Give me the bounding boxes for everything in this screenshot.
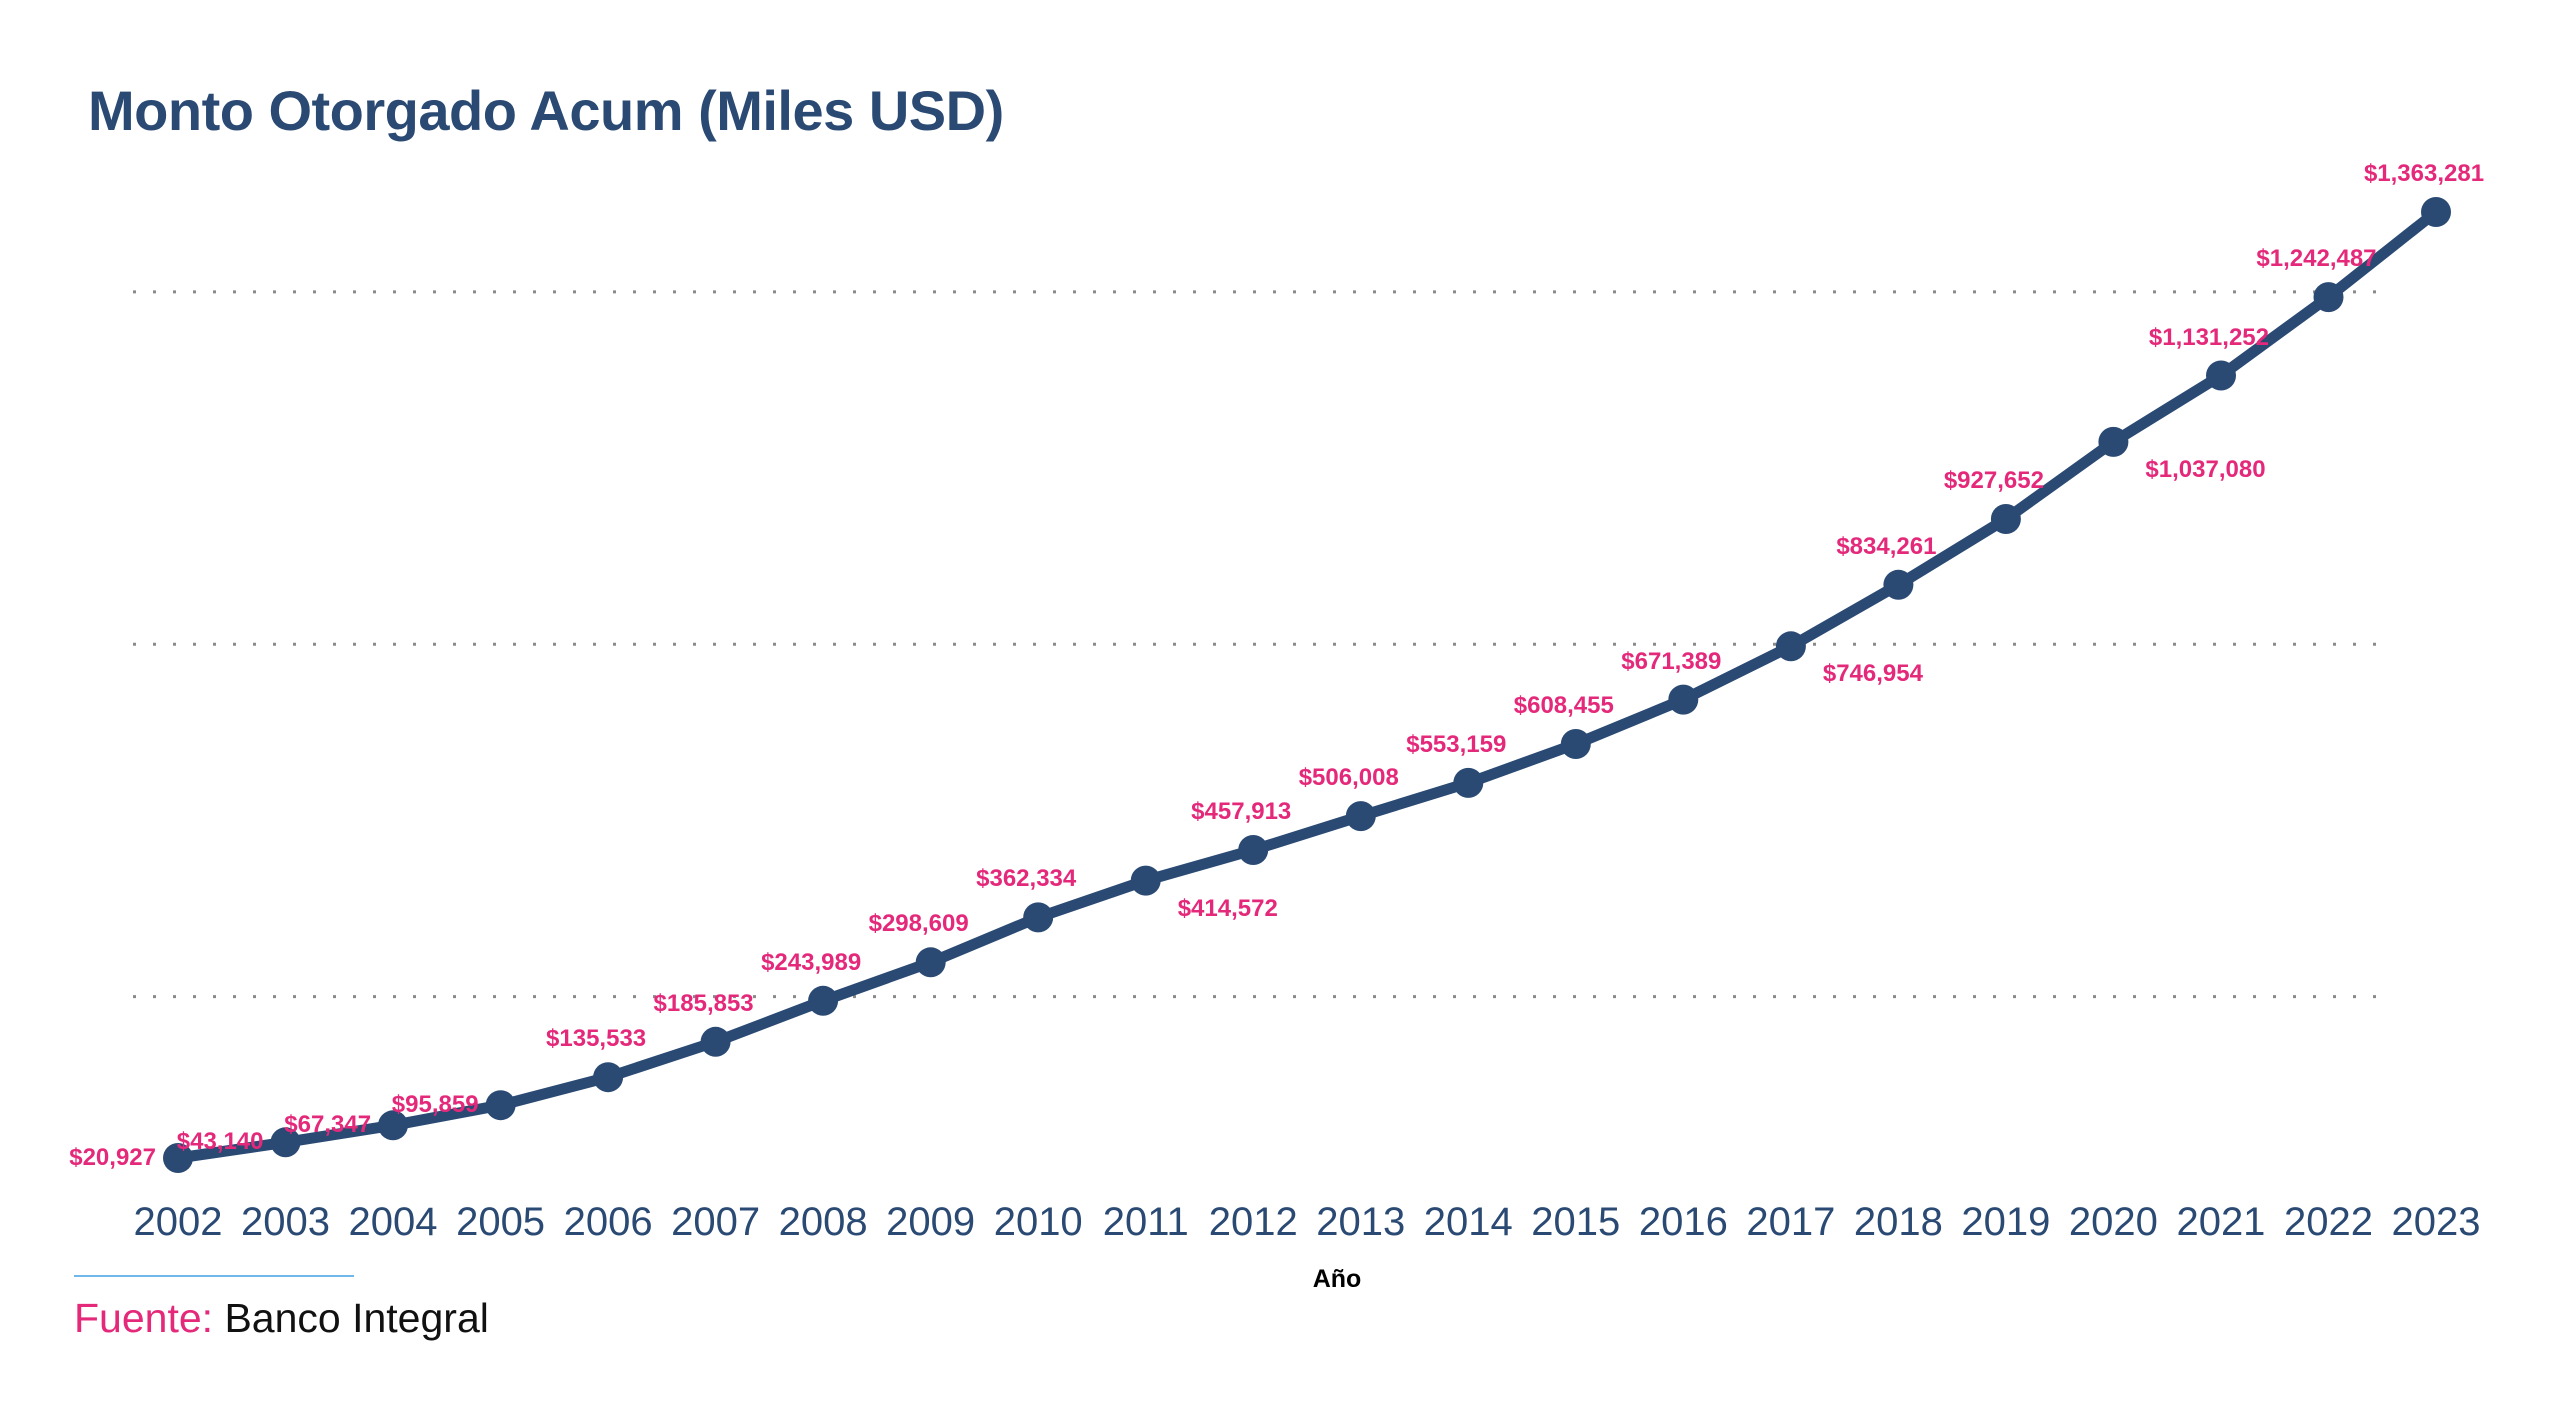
data-point-label: $1,131,252: [2149, 324, 2269, 352]
data-point-label: $362,334: [976, 865, 1076, 893]
x-axis-tick-label: 2011: [1103, 1200, 1189, 1245]
x-axis-tick-label: 2017: [1746, 1200, 1835, 1245]
data-point-label: $1,363,281: [2364, 160, 2484, 188]
x-axis-tick-label: 2022: [2284, 1200, 2373, 1245]
x-axis-tick-label: 2018: [1854, 1200, 1943, 1245]
data-point-label: $834,261: [1836, 533, 1936, 561]
data-point-label: $1,242,487: [2256, 245, 2376, 273]
x-axis-tick-label: 2004: [349, 1200, 438, 1245]
data-point-label: $414,572: [1178, 895, 1278, 923]
data-point-label: $671,389: [1621, 648, 1721, 676]
data-point-label: $608,455: [1514, 692, 1614, 720]
x-axis-tick-label: 2013: [1316, 1200, 1405, 1245]
x-axis-tick-label: 2002: [134, 1200, 223, 1245]
plot-area: $20,9272002$43,1402003$67,3472004$95,859…: [0, 0, 2560, 1412]
x-axis-tick-label: 2023: [2392, 1200, 2481, 1245]
data-point-label: $135,533: [546, 1025, 646, 1053]
data-point-label: $506,008: [1299, 764, 1399, 792]
source-line: Fuente: Banco Integral: [74, 1295, 489, 1342]
x-axis-tick-label: 2010: [994, 1200, 1083, 1245]
data-point-label: $243,989: [761, 949, 861, 977]
data-point-label: $457,913: [1191, 798, 1291, 826]
data-point-label: $298,609: [869, 910, 969, 938]
data-point-label: $95,859: [392, 1091, 479, 1119]
x-axis-tick-label: 2007: [671, 1200, 760, 1245]
source-value: Banco Integral: [224, 1295, 488, 1341]
data-point-label: $927,652: [1944, 467, 2044, 495]
x-axis-tick-label: 2016: [1639, 1200, 1728, 1245]
x-axis-tick-label: 2008: [779, 1200, 868, 1245]
data-point-label: $553,159: [1406, 731, 1506, 759]
x-axis-tick-label: 2012: [1209, 1200, 1298, 1245]
x-axis-tick-label: 2020: [2069, 1200, 2158, 1245]
x-axis-tick-label: 2009: [886, 1200, 975, 1245]
data-point-label: $43,140: [177, 1128, 264, 1156]
x-axis-tick-label: 2014: [1424, 1200, 1513, 1245]
x-axis-tick-label: 2021: [2176, 1200, 2265, 1245]
data-point-label: $185,853: [654, 990, 754, 1018]
data-point-label: $20,927: [69, 1144, 156, 1172]
data-point-label: $67,347: [284, 1111, 371, 1139]
data-point-label: $746,954: [1823, 660, 1923, 688]
chart-footer: Fuente: Banco Integral: [74, 1275, 489, 1342]
x-axis-tick-label: 2019: [1961, 1200, 2050, 1245]
x-axis-tick-label: 2015: [1531, 1200, 1620, 1245]
chart-root: Monto Otorgado Acum (Miles USD) $20,9272…: [0, 0, 2560, 1412]
source-label: Fuente:: [74, 1295, 213, 1341]
x-axis-tick-label: 2003: [241, 1200, 330, 1245]
x-axis-tick-label: 2006: [564, 1200, 653, 1245]
x-axis-title: Año: [1313, 1265, 1362, 1294]
chart-overlay-labels: $20,9272002$43,1402003$67,3472004$95,859…: [0, 0, 2560, 1412]
data-point-label: $1,037,080: [2145, 456, 2265, 484]
x-axis-tick-label: 2005: [456, 1200, 545, 1245]
footer-divider: [74, 1275, 354, 1277]
